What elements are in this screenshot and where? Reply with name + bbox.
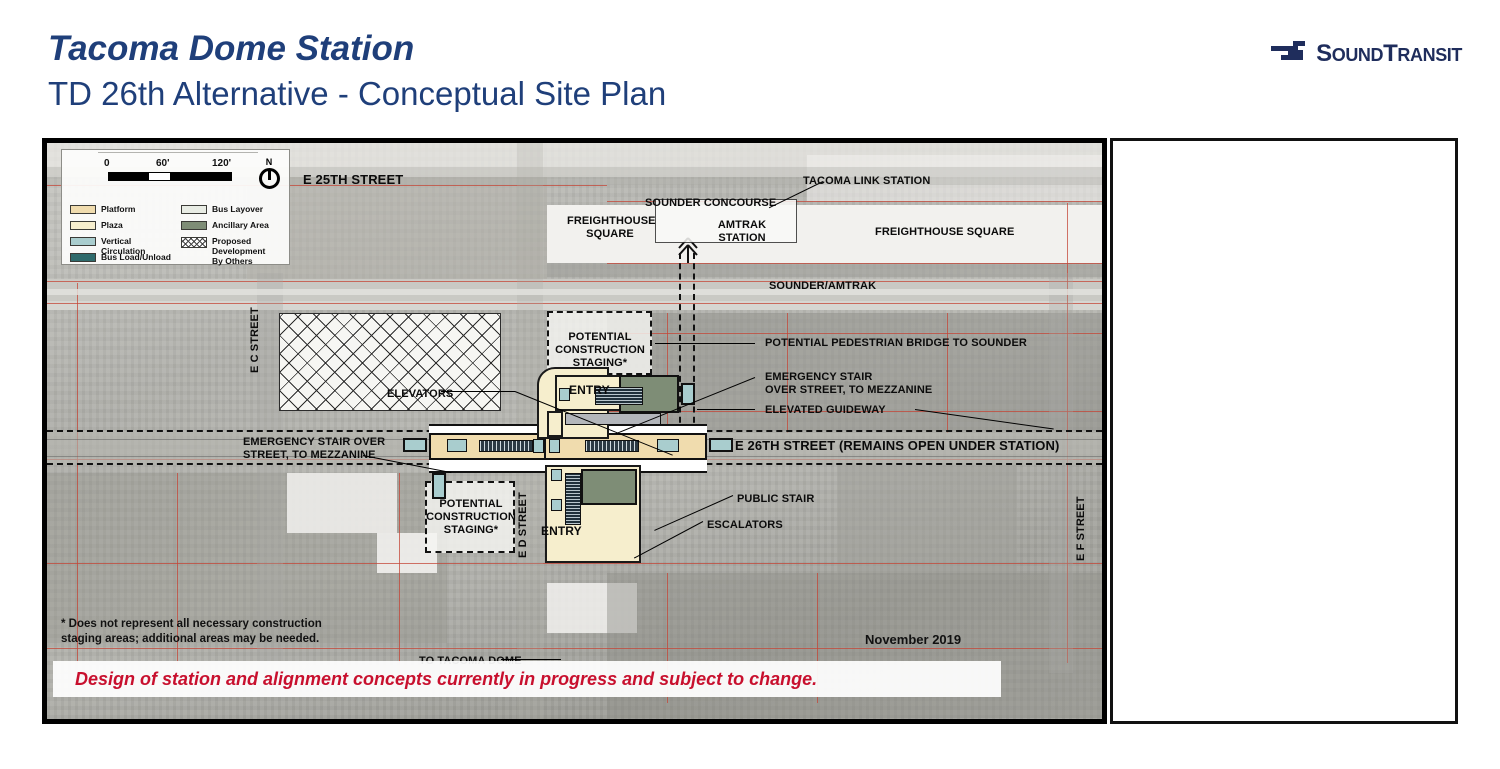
label-emergency-stair-right: EMERGENCY STAIR OVER STREET, TO MEZZANIN… <box>765 371 932 397</box>
legend-column-right: Bus Layover Ancillary Area Proposed Deve… <box>181 204 284 268</box>
compass-ring <box>259 168 280 189</box>
label-emergency-stair-left: EMERGENCY STAIR OVER STREET, TO MEZZANIN… <box>243 436 385 462</box>
leader-line <box>441 391 515 392</box>
vertical-circulation-swatch <box>70 237 96 246</box>
sound-transit-mark-icon <box>1269 38 1307 69</box>
label-elevators: ELEVATORS <box>387 388 453 401</box>
label-staging-north: POTENTIAL CONSTRUCTION STAGING* <box>552 331 648 370</box>
south-escalator <box>565 473 581 525</box>
map-legend: 0 60' 120' N Platform Pla <box>61 149 290 265</box>
sound-transit-wordmark: SOUNDTRANSIT <box>1316 40 1462 68</box>
photo-band <box>547 263 1107 277</box>
label-e-26th-street: E 26TH STREET (REMAINS OPEN UNDER STATIO… <box>735 439 1059 452</box>
ancillary-area-swatch <box>181 221 207 230</box>
legend-label-ancillary-area: Ancillary Area <box>212 220 269 230</box>
scale-bar <box>108 172 232 181</box>
date-stamp: November 2019 <box>865 632 961 647</box>
label-sounder-amtrak: SOUNDER/AMTRAK <box>769 280 876 293</box>
north-bus-layover <box>565 413 661 425</box>
platform-end-elevator <box>709 438 733 452</box>
platform-escalator <box>585 440 639 452</box>
label-freighthouse-square-west: FREIGHTHOUSE SQUARE <box>567 215 653 241</box>
legend-item-bus-layover: Bus Layover <box>181 204 284 217</box>
parcel-line <box>667 313 668 433</box>
logo-ransit: RANSIT <box>1397 45 1462 65</box>
label-entry-south: ENTRY <box>541 525 582 538</box>
disclaimer-banner: Design of station and alignment concepts… <box>53 661 1001 697</box>
disclaimer-text: Design of station and alignment concepts… <box>75 669 817 690</box>
label-elevated-guideway: ELEVATED GUIDEWAY <box>765 404 886 417</box>
sound-transit-logo: SOUNDTRANSIT <box>1269 38 1462 69</box>
north-plaza-walk <box>547 411 563 437</box>
parcel-line <box>77 283 78 663</box>
leader-line <box>697 409 755 410</box>
parcel-line <box>47 648 1102 649</box>
leader-line <box>501 659 561 660</box>
platform-end-elevator <box>403 438 427 452</box>
legend-items: Platform Plaza Vertical Circulation Bus … <box>70 204 284 268</box>
side-panel <box>1110 138 1458 724</box>
site-plan-frame: E 25TH STREET SOUNDER CONCOURSE TACOMA L… <box>42 138 1107 724</box>
parcel-line <box>607 333 1102 334</box>
platform-vertical-circulation <box>533 439 544 453</box>
title-block: Tacoma Dome Station TD 26th Alternative … <box>48 28 666 115</box>
south-elevator <box>551 469 562 481</box>
legend-column-left: Platform Plaza Vertical Circulation Bus … <box>70 204 173 268</box>
staging-footnote: * Does not represent all necessary const… <box>61 617 322 647</box>
bus-load-unload-swatch <box>70 253 96 262</box>
south-elevator <box>551 499 562 511</box>
platform-vertical-circulation <box>447 439 467 452</box>
scale-tick-120: 120' <box>212 158 231 169</box>
legend-item-ancillary-area: Ancillary Area <box>181 220 284 233</box>
label-amtrak-station: AMTRAK STATION <box>699 219 785 245</box>
scale-tick-labels: 0 60' 120' <box>108 158 232 172</box>
legend-label-plaza: Plaza <box>101 220 123 230</box>
legend-item-platform: Platform <box>70 204 173 217</box>
page-header: Tacoma Dome Station TD 26th Alternative … <box>0 0 1500 138</box>
page-title: Tacoma Dome Station <box>48 28 666 70</box>
emergency-stair-structure-left <box>432 473 446 499</box>
platform-vertical-circulation <box>549 439 560 453</box>
parcel-line <box>47 563 1102 564</box>
photo-band <box>837 463 1017 573</box>
leader-line <box>655 343 755 344</box>
legend-label-bus-load-unload: Bus Load/Unload <box>101 252 171 262</box>
label-freighthouse-square-east: FREIGHTHOUSE SQUARE <box>875 226 1014 239</box>
platform-escalator <box>479 440 533 452</box>
proposed-development-swatch <box>181 237 207 248</box>
label-staging-south: POTENTIAL CONSTRUCTION STAGING* <box>425 498 517 537</box>
legend-label-proposed-development: Proposed Development By Others <box>212 236 284 266</box>
parcel-line <box>47 281 1102 282</box>
legend-rule <box>98 152 258 153</box>
label-potential-pedestrian-bridge: POTENTIAL PEDESTRIAN BRIDGE TO SOUNDER <box>765 337 1027 350</box>
platform-swatch <box>70 205 96 214</box>
page-subtitle: TD 26th Alternative - Conceptual Site Pl… <box>48 73 666 115</box>
legend-label-bus-layover: Bus Layover <box>212 204 263 214</box>
compass-north-icon: N <box>252 158 286 189</box>
scale-bar-group: 0 60' 120' <box>108 158 232 181</box>
south-ancillary-area <box>581 469 637 505</box>
legend-item-proposed-development: Proposed Development By Others <box>181 236 284 258</box>
e-f-street-corridor <box>1049 273 1073 673</box>
sounder-amtrak-track <box>47 289 1102 295</box>
label-e-f-street: E F STREET <box>1075 496 1088 561</box>
label-e-c-street: E C STREET <box>249 307 262 373</box>
scale-tick-0: 0 <box>104 158 110 169</box>
parcel-line <box>399 473 400 663</box>
scale-tick-60: 60' <box>156 158 170 169</box>
legend-label-platform: Platform <box>101 204 135 214</box>
plaza-swatch <box>70 221 96 230</box>
label-escalators: ESCALATORS <box>707 519 783 532</box>
bus-layover-swatch <box>181 205 207 214</box>
legend-item-plaza: Plaza <box>70 220 173 233</box>
legend-item-bus-load-unload: Bus Load/Unload <box>70 252 173 265</box>
label-sounder-concourse: SOUNDER CONCOURSE <box>645 197 776 210</box>
compass-north-label: N <box>252 158 286 167</box>
label-e-d-street: E D STREET <box>517 492 530 558</box>
legend-item-vertical-circulation: Vertical Circulation <box>70 236 173 249</box>
label-public-stair: PUBLIC STAIR <box>737 493 814 506</box>
photo-band <box>287 473 397 533</box>
label-entry-north: ENTRY <box>569 384 610 397</box>
parcel-line <box>947 313 948 433</box>
label-e-25th-street: E 25TH STREET <box>303 173 403 186</box>
parcel-line <box>47 303 1102 304</box>
logo-ound: OUND <box>1332 45 1383 65</box>
